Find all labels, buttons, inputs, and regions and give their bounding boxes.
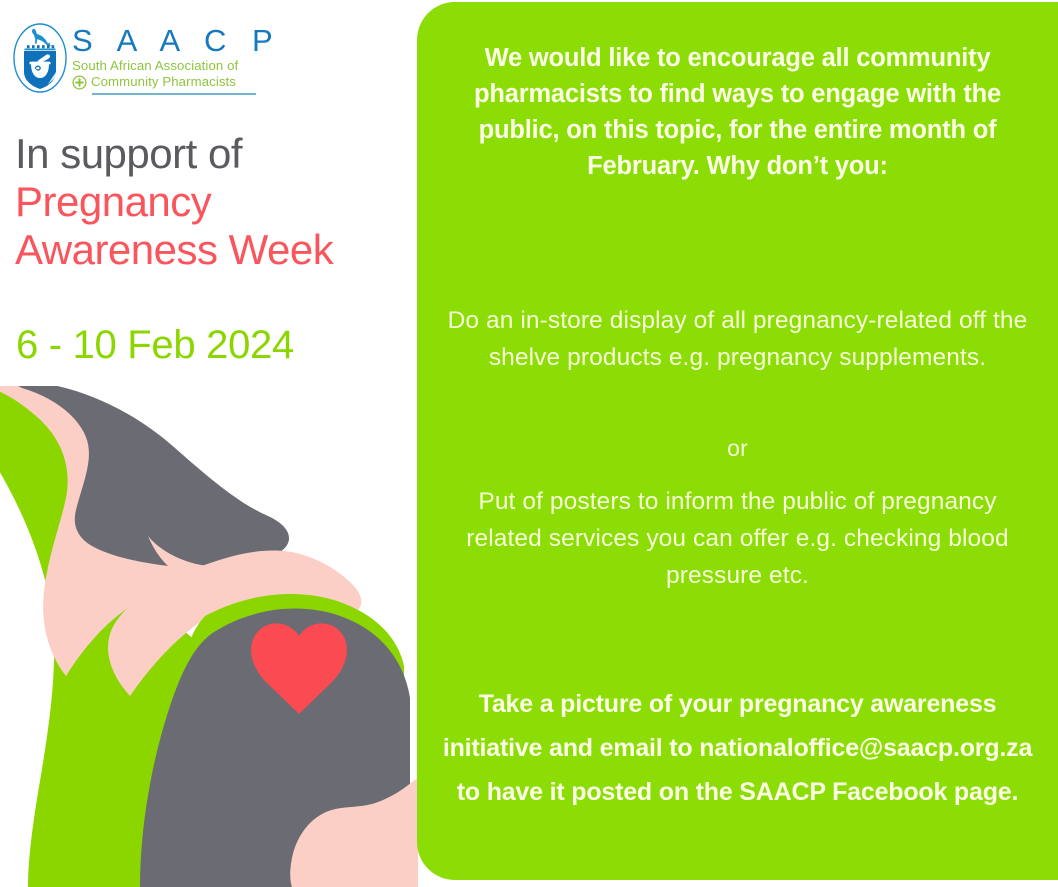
saacp-logo: S A A C P South African Association of C…: [12, 22, 262, 108]
left-column: S A A C P South African Association of C…: [0, 0, 418, 887]
intro-text: We would like to encourage all community…: [433, 40, 1042, 184]
logo-acronym: S A A C P: [72, 24, 262, 58]
event-date: 6 - 10 Feb 2024: [16, 322, 294, 368]
suggestion-two-text: Put of posters to inform the public of p…: [443, 483, 1032, 594]
logo-underline: [92, 93, 256, 95]
divider-or-text: or: [443, 432, 1032, 464]
headline-group: In support of Pregnancy Awareness Week: [15, 130, 415, 274]
logo-tagline-line1: South African Association of: [72, 58, 262, 74]
panel-content: We would like to encourage all community…: [417, 2, 1058, 880]
pregnant-woman-illustration: [0, 386, 418, 887]
green-message-panel: We would like to encourage all community…: [417, 2, 1058, 880]
poster-canvas: S A A C P South African Association of C…: [0, 0, 1058, 887]
headline-line-1: In support of: [15, 130, 415, 178]
headline-line-2: Pregnancy: [15, 178, 415, 226]
call-to-action-text: Take a picture of your pregnancy awarene…: [433, 682, 1042, 814]
logo-wordmark: S A A C P South African Association of C…: [72, 24, 262, 95]
logo-tagline-line2: Community Pharmacists: [91, 74, 236, 90]
suggestion-one-text: Do an in-store display of all pregnancy-…: [443, 302, 1032, 376]
circled-cross-icon: [72, 75, 87, 90]
headline-line-3: Awareness Week: [15, 226, 415, 274]
logo-tagline-line2-row: Community Pharmacists: [72, 74, 262, 90]
saacp-shield-logo-icon: [12, 22, 68, 94]
